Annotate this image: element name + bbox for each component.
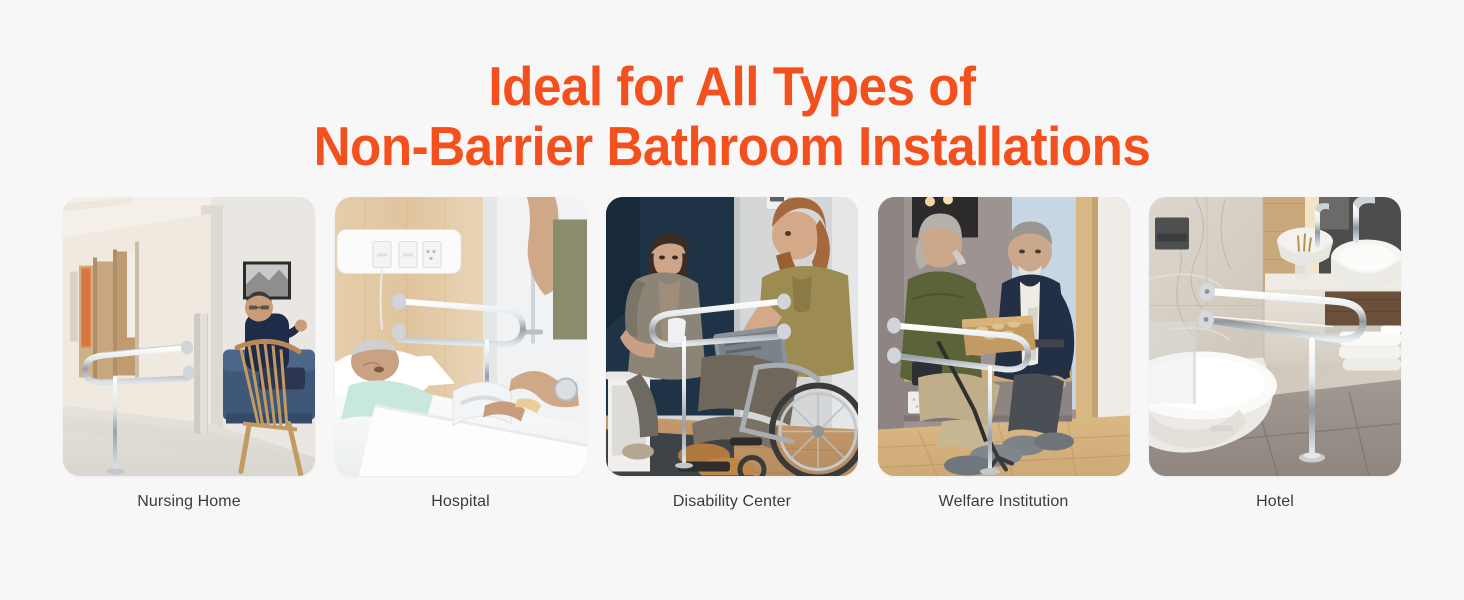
page-title: Ideal for All Types of Non-Barrier Bathr… (51, 56, 1413, 176)
gallery-item-caption: Nursing Home (137, 492, 240, 512)
nursing-home-image[interactable] (63, 197, 315, 476)
gallery-item-caption: Disability Center (673, 492, 791, 512)
gallery-item-nursing-home[interactable]: Nursing Home (63, 197, 315, 512)
welfare-institution-image[interactable] (878, 197, 1130, 476)
page-title-line-2: Non-Barrier Bathroom Installations (51, 116, 1413, 176)
page-title-line-1: Ideal for All Types of (51, 56, 1413, 116)
gallery-item-hotel[interactable]: Hotel (1149, 197, 1401, 512)
gallery-item-caption: Welfare Institution (939, 492, 1069, 512)
gallery-item-disability-center[interactable]: Disability Center (606, 197, 858, 512)
gallery-item-caption: Hotel (1256, 492, 1294, 512)
gallery-item-caption: Hospital (431, 492, 490, 512)
promo-banner: Ideal for All Types of Non-Barrier Bathr… (0, 0, 1464, 600)
hospital-image[interactable] (335, 197, 587, 476)
gallery-item-hospital[interactable]: Hospital (335, 197, 587, 512)
application-gallery: Nursing Home (63, 197, 1401, 512)
gallery-item-welfare-institution[interactable]: Welfare Institution (878, 197, 1130, 512)
disability-center-image[interactable] (606, 197, 858, 476)
hotel-image[interactable] (1149, 197, 1401, 476)
